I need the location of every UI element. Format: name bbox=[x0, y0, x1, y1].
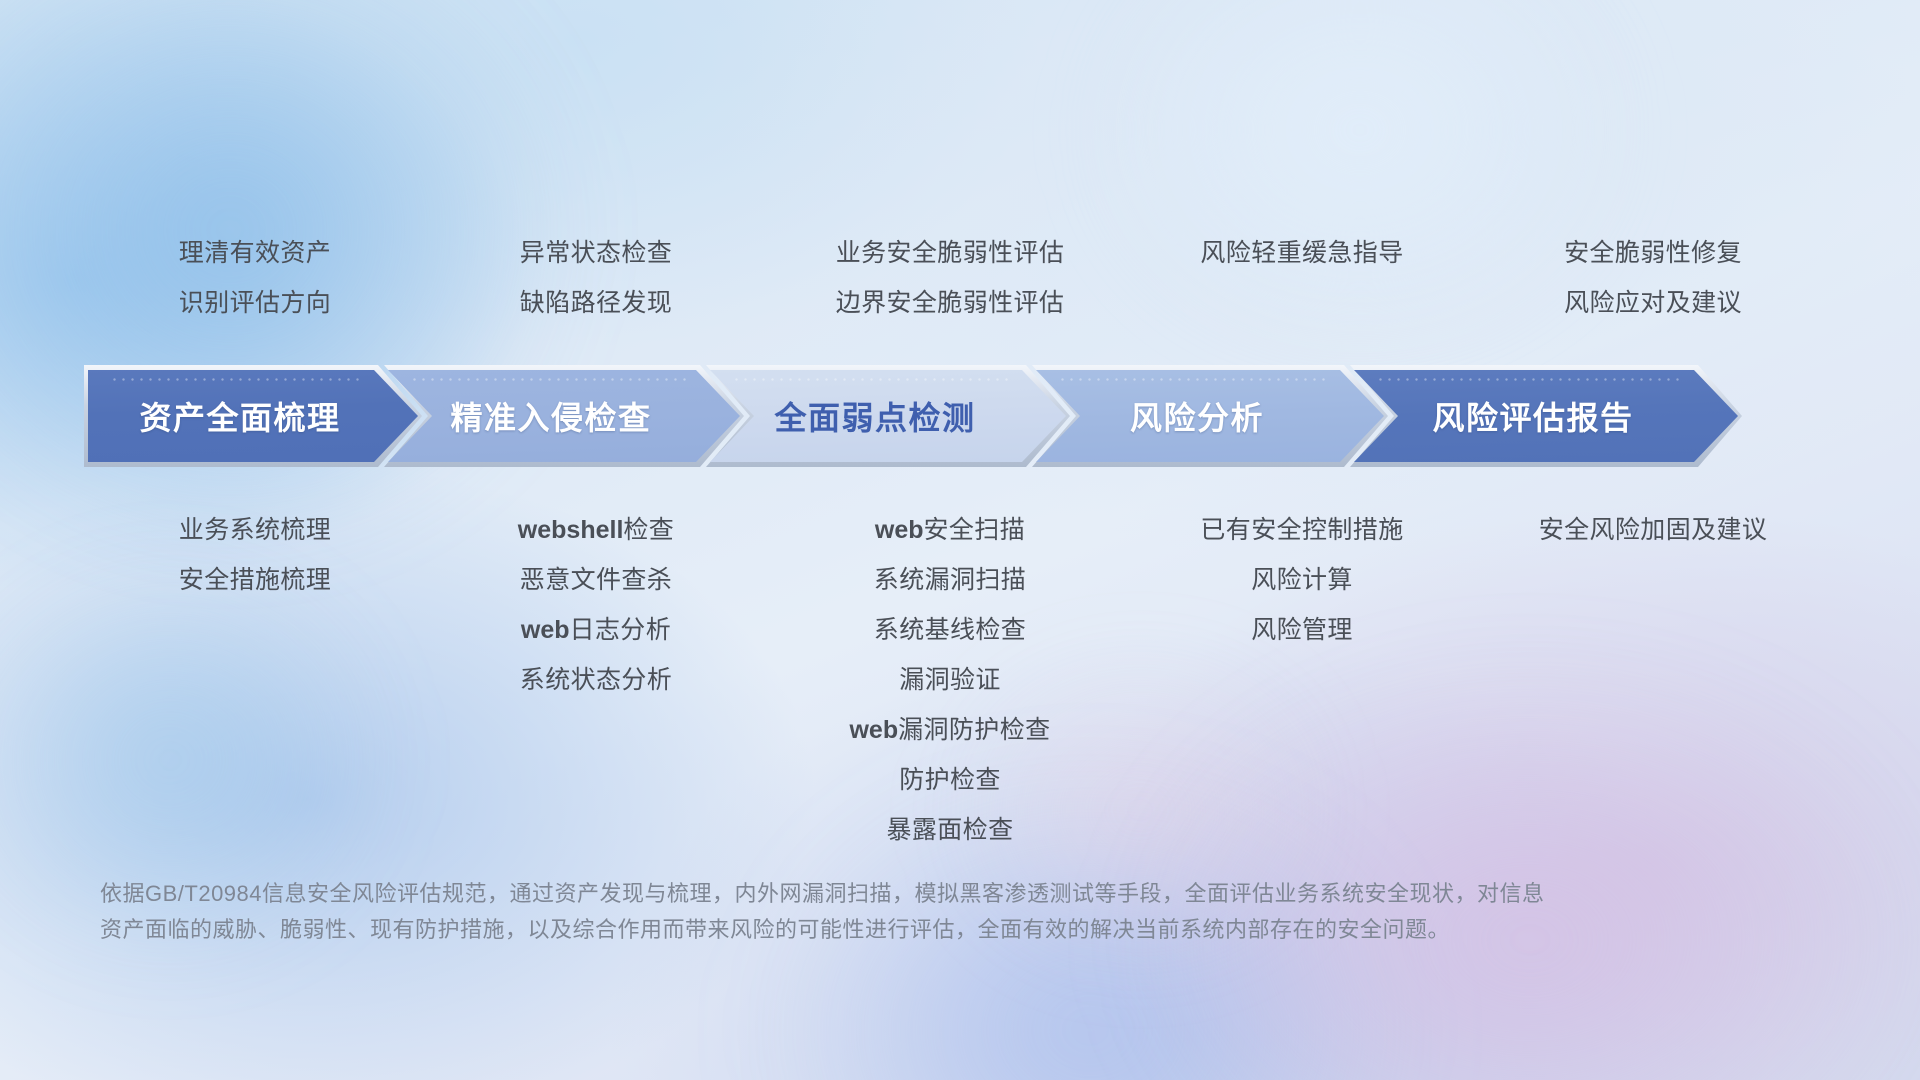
list-item: 风险管理 bbox=[1251, 605, 1353, 655]
list-item: 系统漏洞扫描 bbox=[874, 555, 1026, 605]
list-item: 边界安全脆弱性评估 bbox=[836, 278, 1065, 328]
list-item: 安全脆弱性修复 bbox=[1564, 228, 1742, 278]
list-item: 安全风险加固及建议 bbox=[1539, 505, 1768, 555]
chevron-step-5[interactable]: 风险评估报告 bbox=[1354, 370, 1738, 462]
list-item: web日志分析 bbox=[521, 605, 671, 655]
top-items-step-5: 安全脆弱性修复 风险应对及建议 bbox=[1476, 228, 1830, 328]
chevron-step-4[interactable]: 风险分析 bbox=[1036, 370, 1384, 462]
chevron-step-1-label: 资产全面梳理 bbox=[139, 393, 366, 439]
list-item: 已有安全控制措施 bbox=[1200, 505, 1403, 555]
slide-canvas: 理清有效资产 识别评估方向 异常状态检查 缺陷路径发现 业务安全脆弱性评估 边界… bbox=[0, 0, 1920, 1080]
list-item: 漏洞验证 bbox=[899, 655, 1001, 705]
process-chevron-banner: 资产全面梳理 精准入侵检查 全面弱点检测 风险分析 bbox=[88, 370, 1834, 462]
top-items-step-1: 理清有效资产 识别评估方向 bbox=[90, 228, 420, 328]
footer-description: 依据GB/T20984信息安全风险评估规范，通过资产发现与梳理，内外网漏洞扫描，… bbox=[100, 876, 1620, 948]
chevron-step-3[interactable]: 全面弱点检测 bbox=[710, 370, 1066, 462]
bottom-items-step-1: 业务系统梳理 安全措施梳理 bbox=[90, 505, 420, 605]
list-item: 风险轻重缓急指导 bbox=[1200, 228, 1403, 278]
list-item: 系统基线检查 bbox=[874, 605, 1026, 655]
top-items-row: 理清有效资产 识别评估方向 异常状态检查 缺陷路径发现 业务安全脆弱性评估 边界… bbox=[90, 228, 1830, 328]
bottom-items-step-5: 安全风险加固及建议 bbox=[1476, 505, 1830, 555]
list-item: webshell检查 bbox=[518, 505, 674, 555]
list-item: 异常状态检查 bbox=[520, 228, 672, 278]
list-item: 系统状态分析 bbox=[520, 655, 672, 705]
chevron-step-3-label: 全面弱点检测 bbox=[774, 393, 1001, 439]
list-item: 恶意文件查杀 bbox=[520, 555, 672, 605]
list-item: web安全扫描 bbox=[875, 505, 1025, 555]
bottom-items-step-3: web安全扫描 系统漏洞扫描 系统基线检查 漏洞验证 web漏洞防护检查 防护检… bbox=[772, 505, 1128, 855]
chevron-step-4-label: 风险分析 bbox=[1130, 393, 1290, 439]
chevron-step-2-label: 精准入侵检查 bbox=[450, 393, 677, 439]
footer-line-1: 依据GB/T20984信息安全风险评估规范，通过资产发现与梳理，内外网漏洞扫描，… bbox=[100, 876, 1620, 912]
list-item: web漏洞防护检查 bbox=[849, 705, 1050, 755]
top-items-step-2: 异常状态检查 缺陷路径发现 bbox=[420, 228, 772, 328]
list-item: 风险计算 bbox=[1251, 555, 1353, 605]
list-item: 业务安全脆弱性评估 bbox=[836, 228, 1065, 278]
top-items-step-4: 风险轻重缓急指导 bbox=[1128, 228, 1476, 328]
list-item: 防护检查 bbox=[899, 755, 1001, 805]
list-item: 安全措施梳理 bbox=[179, 555, 331, 605]
chevron-step-2[interactable]: 精准入侵检查 bbox=[388, 370, 740, 462]
list-item: 业务系统梳理 bbox=[179, 505, 331, 555]
diagram-content: 理清有效资产 识别评估方向 异常状态检查 缺陷路径发现 业务安全脆弱性评估 边界… bbox=[0, 0, 1920, 1080]
chevron-step-5-label: 风险评估报告 bbox=[1432, 393, 1659, 439]
bottom-items-row: 业务系统梳理 安全措施梳理 webshell检查 恶意文件查杀 web日志分析 … bbox=[90, 505, 1830, 855]
chevron-step-1[interactable]: 资产全面梳理 bbox=[88, 370, 418, 462]
bottom-items-step-2: webshell检查 恶意文件查杀 web日志分析 系统状态分析 bbox=[420, 505, 772, 705]
list-item: 理清有效资产 bbox=[179, 228, 331, 278]
footer-line-2: 资产面临的威胁、脆弱性、现有防护措施，以及综合作用而带来风险的可能性进行评估，全… bbox=[100, 912, 1620, 948]
bottom-items-step-4: 已有安全控制措施 风险计算 风险管理 bbox=[1128, 505, 1476, 655]
list-item: 风险应对及建议 bbox=[1564, 278, 1742, 328]
list-item: 识别评估方向 bbox=[179, 278, 331, 328]
list-item: 暴露面检查 bbox=[886, 805, 1013, 855]
top-items-step-3: 业务安全脆弱性评估 边界安全脆弱性评估 bbox=[772, 228, 1128, 328]
list-item: 缺陷路径发现 bbox=[520, 278, 672, 328]
